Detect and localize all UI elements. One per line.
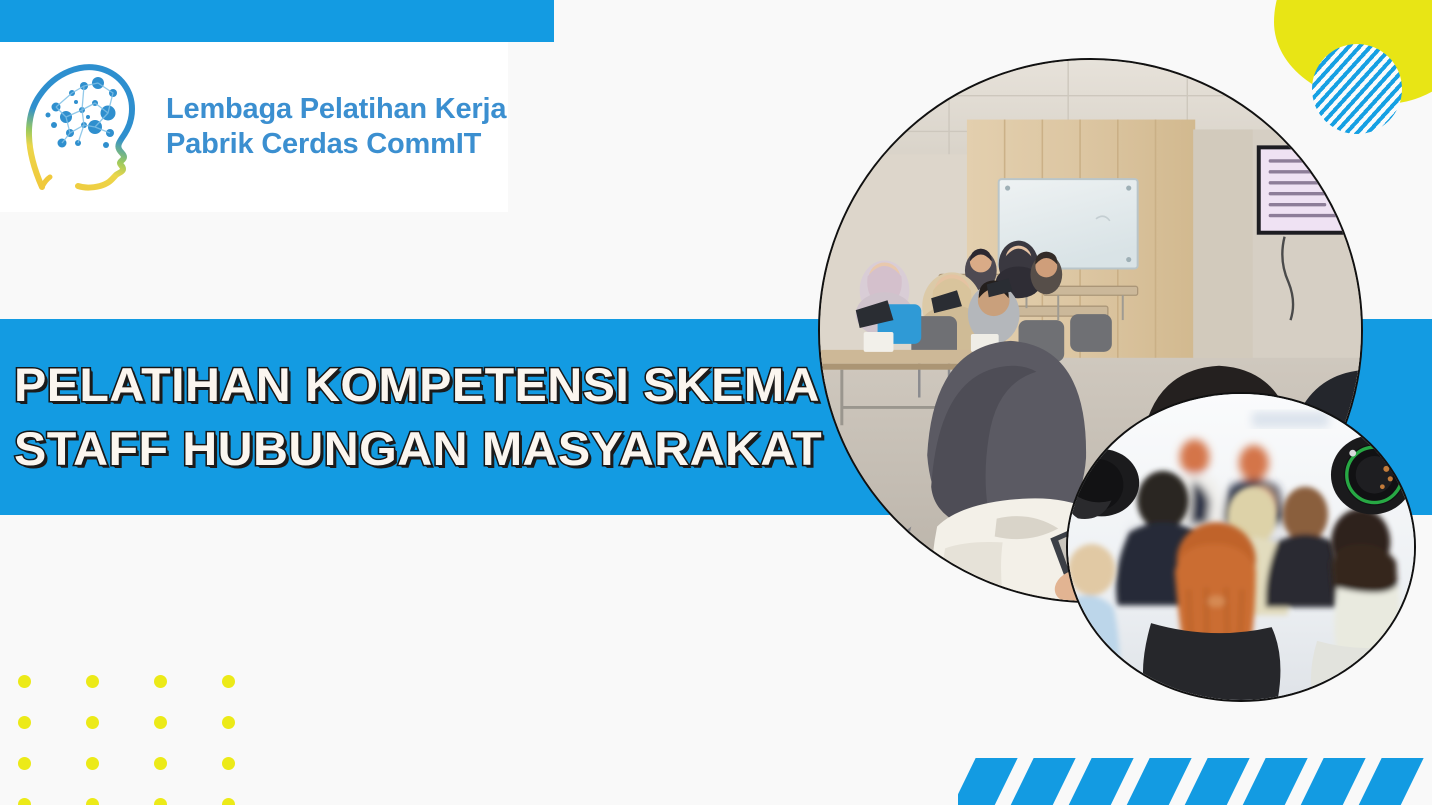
grid-dot — [222, 675, 235, 688]
grid-dot — [18, 798, 31, 805]
grid-dot — [154, 675, 167, 688]
striped-circle-icon — [1312, 44, 1402, 134]
grid-dot — [154, 716, 167, 729]
head-brain-network-icon — [20, 55, 152, 200]
seminar-audience-photo — [1066, 392, 1416, 702]
brand-logo-text: Lembaga Pelatihan Kerja Pabrik Cerdas Co… — [166, 92, 506, 163]
grid-dot — [86, 675, 99, 688]
grid-dot — [86, 757, 99, 770]
grid-dot — [222, 716, 235, 729]
brand-logo-line-1: Lembaga Pelatihan Kerja — [166, 93, 506, 125]
grid-dot — [222, 798, 235, 805]
yellow-dot-grid — [0, 660, 260, 805]
top-blue-bar — [0, 0, 554, 42]
blue-stripe-band — [958, 758, 1432, 805]
grid-dot — [18, 675, 31, 688]
grid-dot — [18, 716, 31, 729]
brand-logo-line-2: Pabrik Cerdas CommIT — [166, 127, 506, 162]
grid-dot — [86, 716, 99, 729]
grid-dot — [222, 757, 235, 770]
grid-dot — [86, 798, 99, 805]
brand-logo-card: Lembaga Pelatihan Kerja Pabrik Cerdas Co… — [0, 42, 508, 212]
grid-dot — [18, 757, 31, 770]
grid-dot — [154, 798, 167, 805]
banner-canvas: Lembaga Pelatihan Kerja Pabrik Cerdas Co… — [0, 0, 1432, 805]
grid-dot — [154, 757, 167, 770]
